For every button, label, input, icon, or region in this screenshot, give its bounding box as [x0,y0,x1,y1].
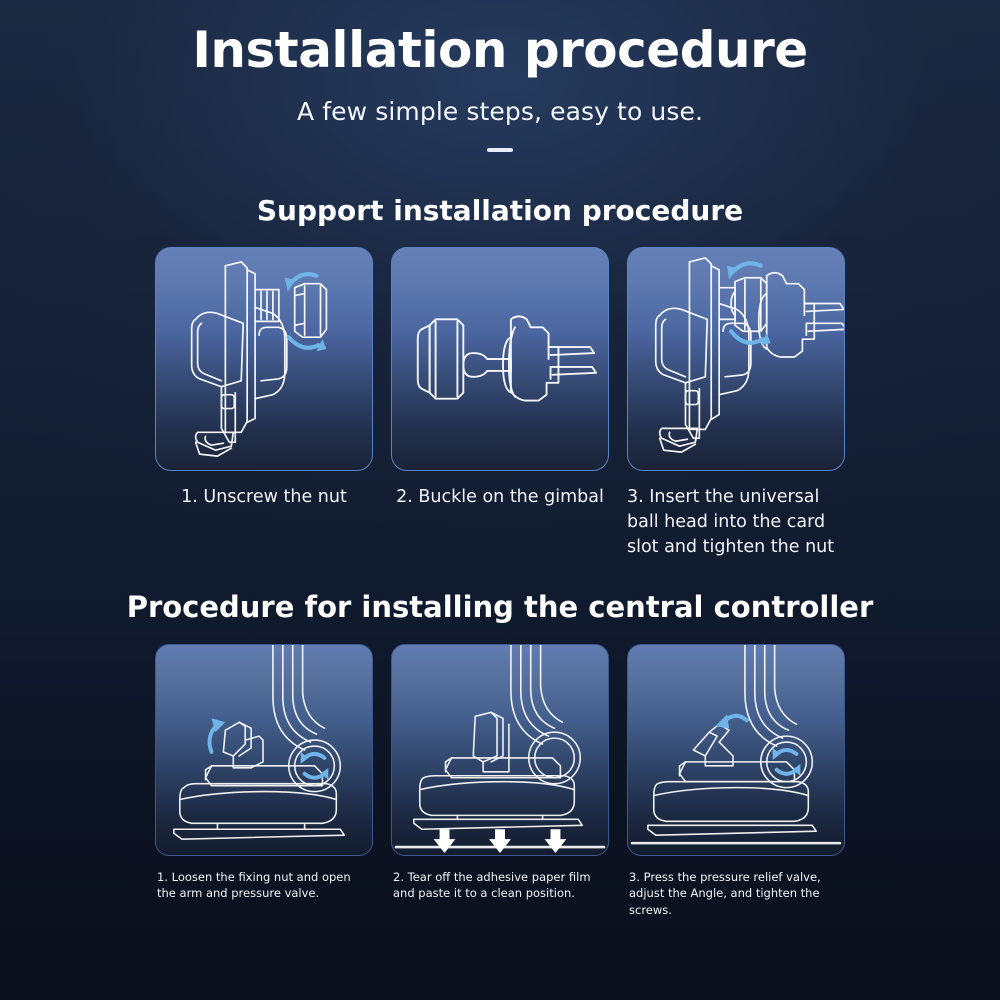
step-card-2: 2. Buckle on the gimbal [391,247,609,560]
section-1-card-row: 1. Unscrew the nut [0,247,1000,560]
page-background: Installation procedure A few simple step… [0,0,1000,1000]
illustration-card [627,247,845,471]
page-title: Installation procedure [0,22,1000,78]
dashboard-base-open-arm-icon [156,645,372,855]
page-header: Installation procedure A few simple step… [0,0,1000,152]
controller-card-1: 1. Loosen the fixing nut and open the ar… [155,644,373,919]
section-2-heading: Procedure for installing the central con… [0,560,1000,624]
illustration-card [155,247,373,471]
controller-card-2: 2. Tear off the adhesive paper film and … [391,644,609,919]
page-subtitle: A few simple steps, easy to use. [0,97,1000,126]
section-central-controller: Procedure for installing the central con… [0,560,1000,919]
controller-caption: 1. Loosen the fixing nut and open the ar… [155,869,373,902]
dashboard-base-tighten-screws-icon [628,645,844,855]
section-support-installation: Support installation procedure [0,152,1000,560]
nut-ballhead-gimbal-icon [392,248,608,470]
step-caption: 2. Buckle on the gimbal [391,485,609,510]
press-down-arrow-icon [434,829,567,853]
controller-caption: 2. Tear off the adhesive paper film and … [391,869,609,902]
step-card-1: 1. Unscrew the nut [155,247,373,560]
section-2-card-row: 1. Loosen the fixing nut and open the ar… [0,644,1000,919]
controller-caption: 3. Press the pressure relief valve, adju… [627,869,845,919]
step-caption: 1. Unscrew the nut [155,485,373,510]
illustration-card [391,644,609,856]
illustration-card [155,644,373,856]
controller-card-3: 3. Press the pressure relief valve, adju… [627,644,845,919]
section-1-heading: Support installation procedure [0,152,1000,227]
phone-holder-unscrew-nut-icon [156,248,372,470]
step-card-3: 3. Insert the universal ball head into t… [627,247,845,560]
illustration-card [627,644,845,856]
illustration-card [391,247,609,471]
phone-holder-tighten-nut-icon [628,248,844,470]
dashboard-base-press-down-icon [392,645,608,855]
arrow-head-icon [715,714,729,728]
step-caption: 3. Insert the universal ball head into t… [627,485,845,560]
